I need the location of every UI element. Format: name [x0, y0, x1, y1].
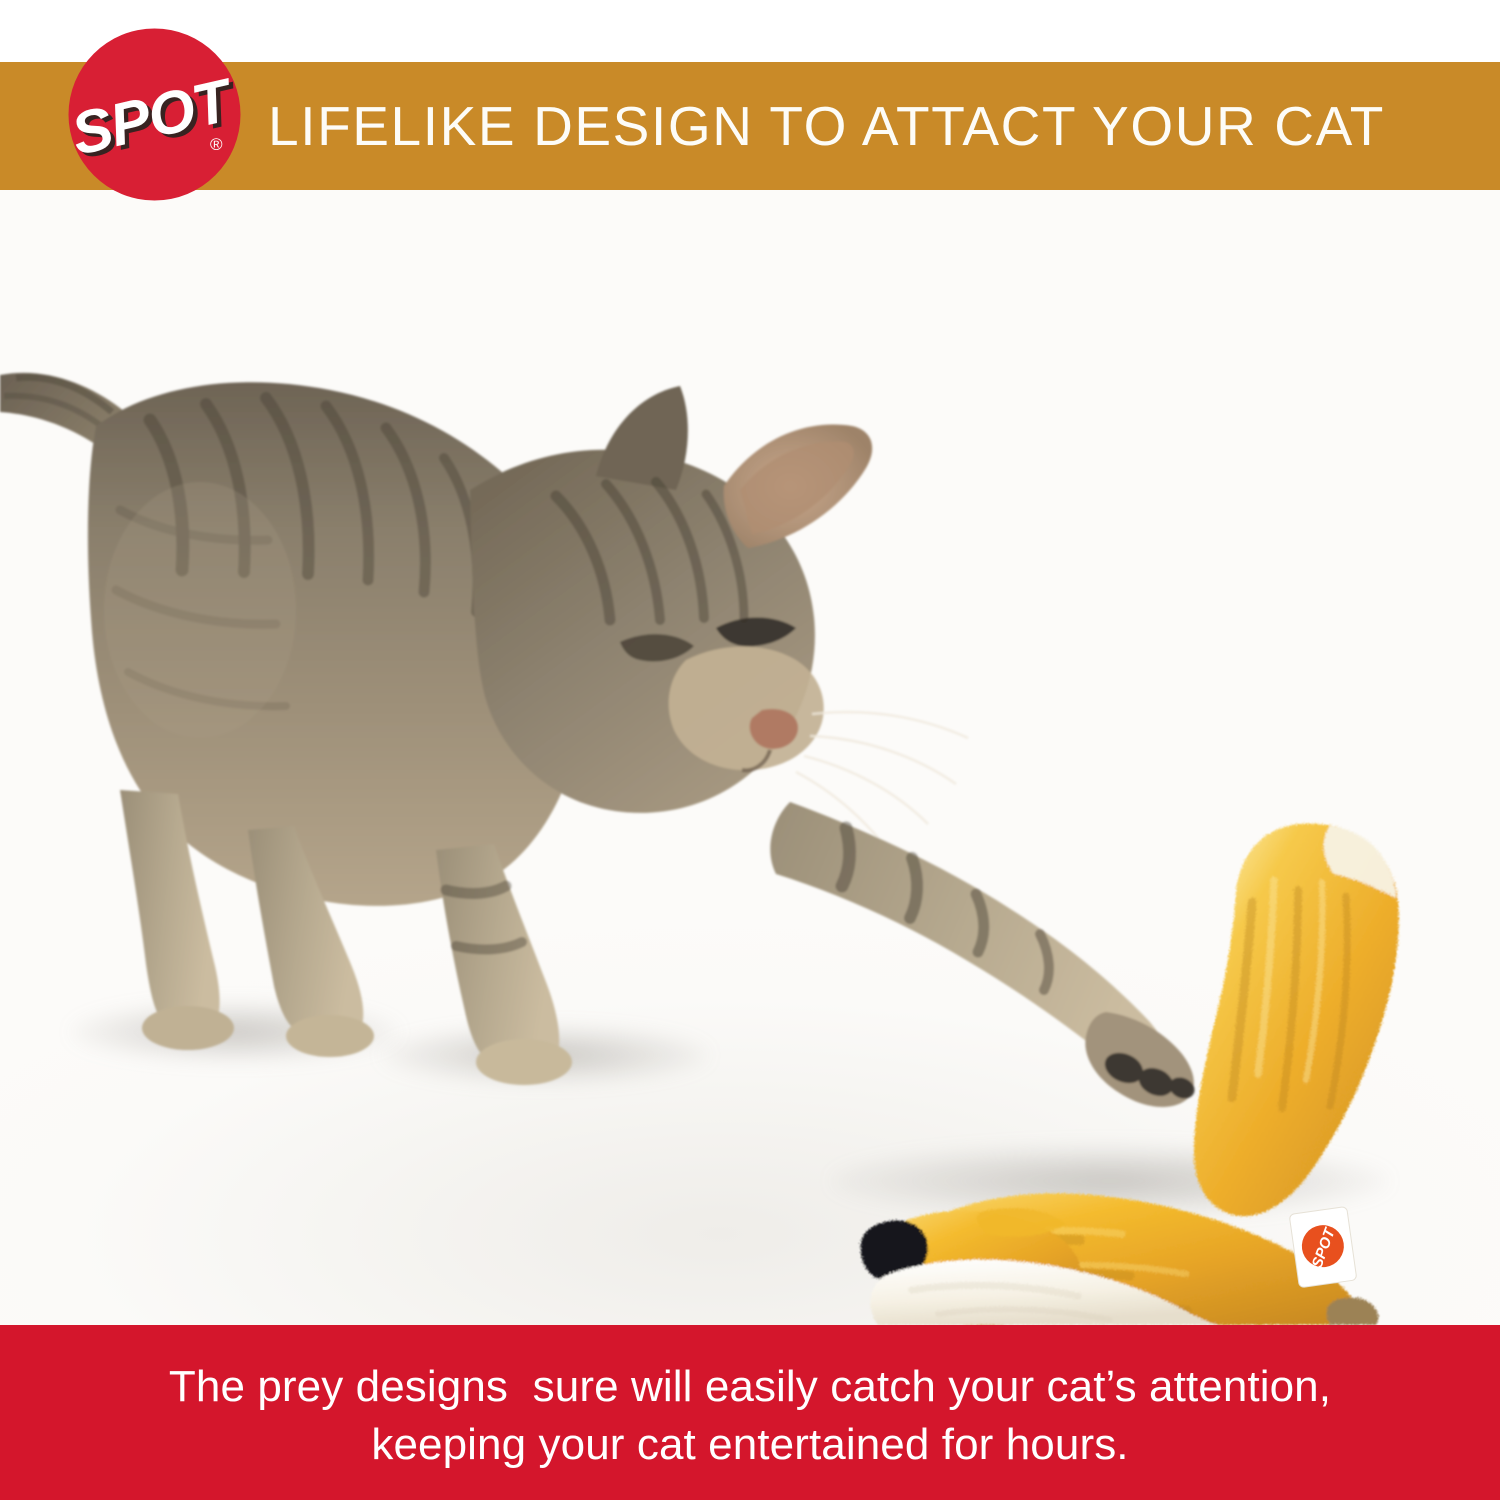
footer-banner: The prey designs sure will easily catch … [0, 1325, 1500, 1500]
photo-stage: SPOT [0, 190, 1500, 1325]
footer-line-2: keeping your cat entertained for hours. [371, 1416, 1128, 1473]
spot-brand-logo: SPOT SPOT ® [67, 27, 242, 202]
fox-toy-illustration [0, 190, 1500, 1325]
product-photo: SPOT [0, 190, 1500, 1325]
toy-foot [1327, 1298, 1379, 1325]
registered-trademark-icon: ® [210, 135, 223, 154]
footer-line-1: The prey designs sure will easily catch … [169, 1358, 1331, 1415]
product-banner-page: LIFELIKE DESIGN TO ATTACT YOUR CAT SPOT … [0, 0, 1500, 1500]
header-headline: LIFELIKE DESIGN TO ATTACT YOUR CAT [268, 62, 1500, 190]
spot-hangtag: SPOT [1288, 1206, 1360, 1288]
